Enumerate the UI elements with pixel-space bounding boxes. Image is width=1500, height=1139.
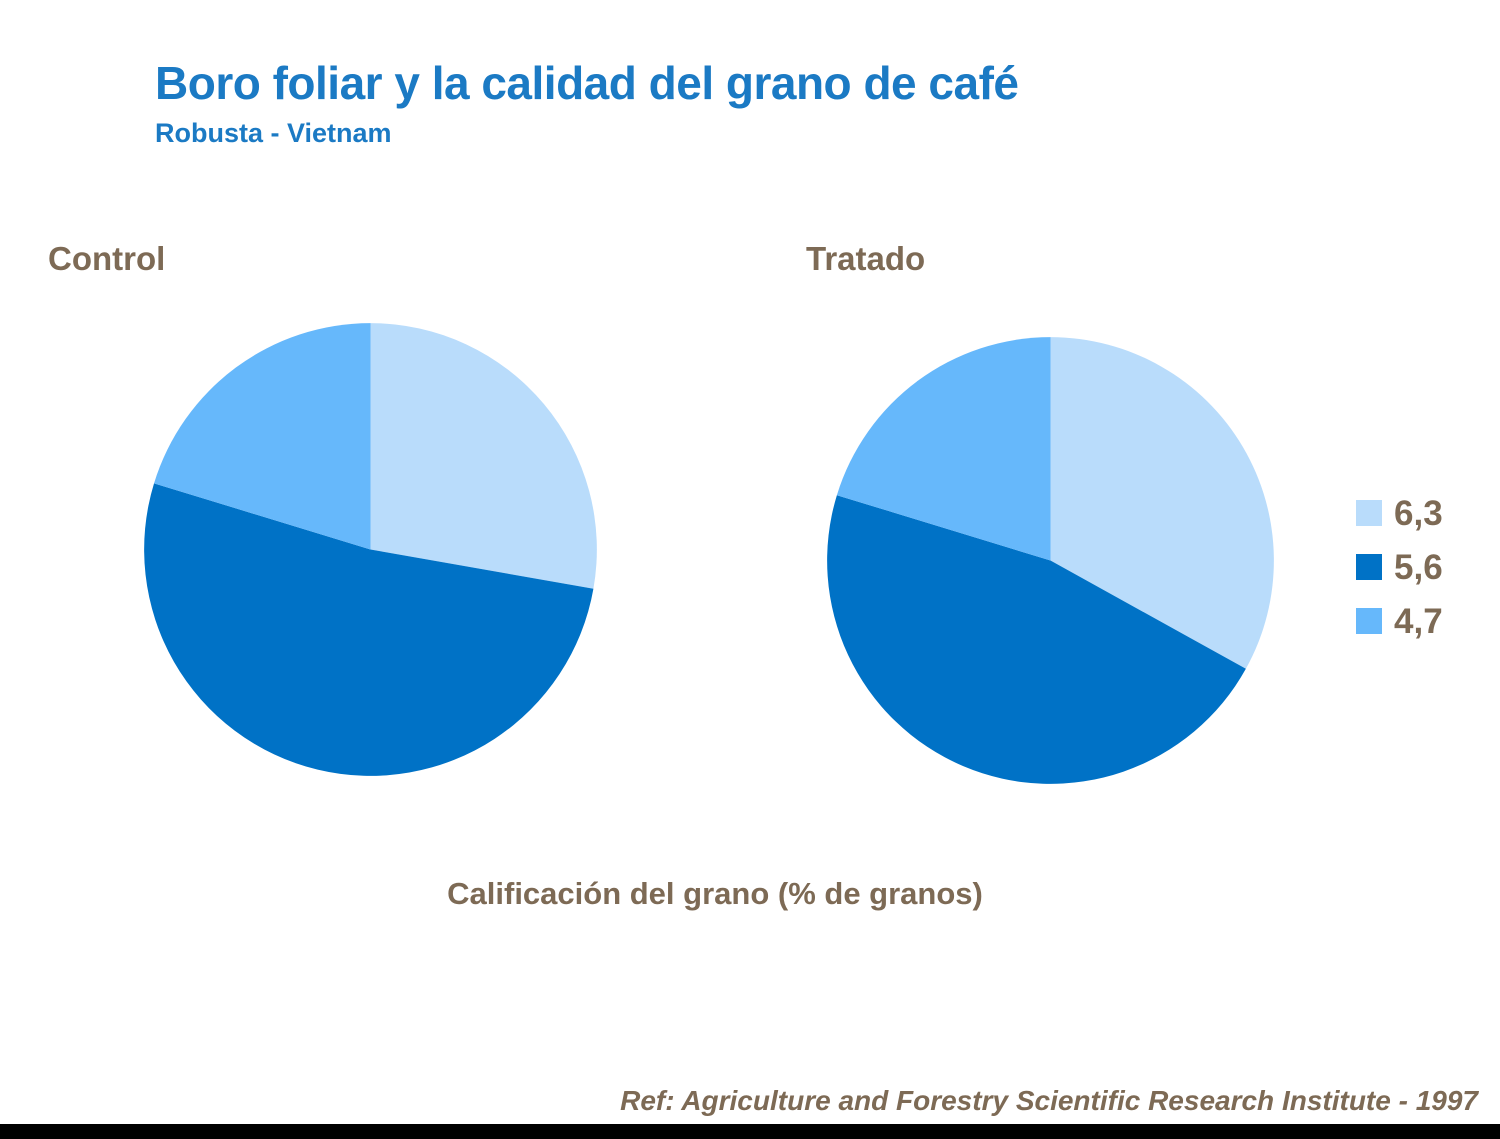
pie-control-slice-6-3[interactable] (371, 323, 597, 589)
slide-canvas: Boro foliar y la calidad del grano de ca… (0, 0, 1500, 1139)
legend-label-6-3: 6,3 (1394, 496, 1443, 531)
legend-label-5-6: 5,6 (1394, 550, 1443, 585)
pie-control-svg (143, 322, 598, 777)
bottom-bar (0, 1124, 1500, 1139)
pie-chart-tratado (826, 336, 1275, 785)
legend-item-4-7[interactable]: 4,7 (1356, 594, 1443, 648)
panel-caption-tratado: Tratado (806, 240, 925, 278)
chart-legend: 6,3 5,6 4,7 (1356, 486, 1443, 648)
legend-label-4-7: 4,7 (1394, 604, 1443, 639)
panel-caption-control: Control (48, 240, 165, 278)
legend-swatch-icon-6-3 (1356, 500, 1382, 526)
page-title: Boro foliar y la calidad del grano de ca… (155, 56, 1018, 110)
pie-tratado-svg (826, 336, 1275, 785)
legend-swatch-icon-5-6 (1356, 554, 1382, 580)
value-axis-caption: Calificación del grano (% de granos) (0, 876, 1430, 912)
reference-note: Ref: Agriculture and Forestry Scientific… (620, 1085, 1478, 1117)
page-subtitle: Robusta - Vietnam (155, 118, 392, 149)
legend-item-6-3[interactable]: 6,3 (1356, 486, 1443, 540)
legend-item-5-6[interactable]: 5,6 (1356, 540, 1443, 594)
legend-swatch-icon-4-7 (1356, 608, 1382, 634)
pie-tratado-slices (827, 337, 1274, 784)
pie-chart-control (143, 322, 598, 777)
pie-control-slices (144, 323, 597, 776)
